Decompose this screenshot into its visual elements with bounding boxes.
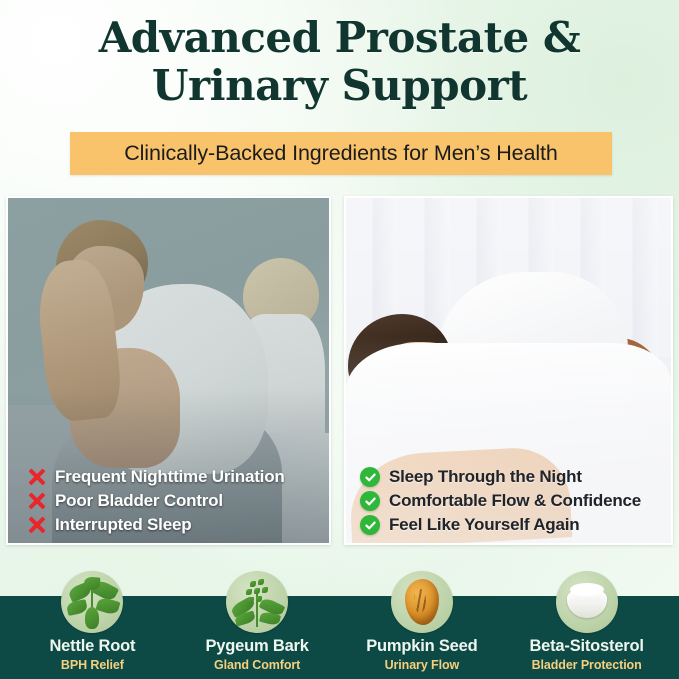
check-icon [360,467,380,487]
page-title: Advanced Prostate & Urinary Support [0,14,679,110]
list-item: Frequent Nighttime Urination [28,467,329,487]
ingredient-row: Nettle Root BPH Relief [0,570,679,679]
list-item: Interrupted Sleep [28,515,329,535]
ingredient-benefit: Urinary Flow [347,657,497,673]
product-infographic: Advanced Prostate & Urinary Support Clin… [0,0,679,679]
list-item-label: Comfortable Flow & Confidence [389,491,641,511]
ingredient-item: Nettle Root BPH Relief [17,571,167,673]
powder-bowl-icon [556,571,618,633]
subtitle-text: Clinically-Backed Ingredients for Men’s … [124,141,558,166]
x-icon [28,516,46,534]
ingredient-name: Pumpkin Seed [347,637,497,656]
ingredient-name: Nettle Root [17,637,167,656]
before-photo-panel: Frequent Nighttime Urination Poor Bladde… [6,196,331,545]
ingredient-item: Pygeum Bark Gland Comfort [182,571,332,673]
title-line-1: Advanced Prostate & [0,14,679,62]
ingredient-name: Beta-Sitosterol [512,637,662,656]
after-photo-panel: Sleep Through the Night Comfortable Flow… [344,196,673,545]
list-item-label: Poor Bladder Control [55,491,223,511]
list-item-label: Feel Like Yourself Again [389,515,579,535]
x-icon [28,468,46,486]
ingredient-item: Beta-Sitosterol Bladder Protection [512,571,662,673]
list-item: Comfortable Flow & Confidence [360,491,671,511]
benefit-list: Sleep Through the Night Comfortable Flow… [346,467,671,535]
nettle-leaf-icon [61,571,123,633]
ingredient-name: Pygeum Bark [182,637,332,656]
pygeum-berry-plant-icon [226,571,288,633]
list-item: Poor Bladder Control [28,491,329,511]
list-item-label: Sleep Through the Night [389,467,582,487]
subtitle-banner: Clinically-Backed Ingredients for Men’s … [70,132,612,175]
symptom-list: Frequent Nighttime Urination Poor Bladde… [8,467,329,535]
ingredient-benefit: BPH Relief [17,657,167,673]
x-icon [28,492,46,510]
list-item-label: Frequent Nighttime Urination [55,467,285,487]
list-item: Sleep Through the Night [360,467,671,487]
ingredient-item: Pumpkin Seed Urinary Flow [347,571,497,673]
list-item-label: Interrupted Sleep [55,515,191,535]
pumpkin-seed-icon [391,571,453,633]
title-line-2: Urinary Support [0,62,679,110]
check-icon [360,515,380,535]
ingredient-benefit: Bladder Protection [512,657,662,673]
list-item: Feel Like Yourself Again [360,515,671,535]
ingredient-benefit: Gland Comfort [182,657,332,673]
check-icon [360,491,380,511]
